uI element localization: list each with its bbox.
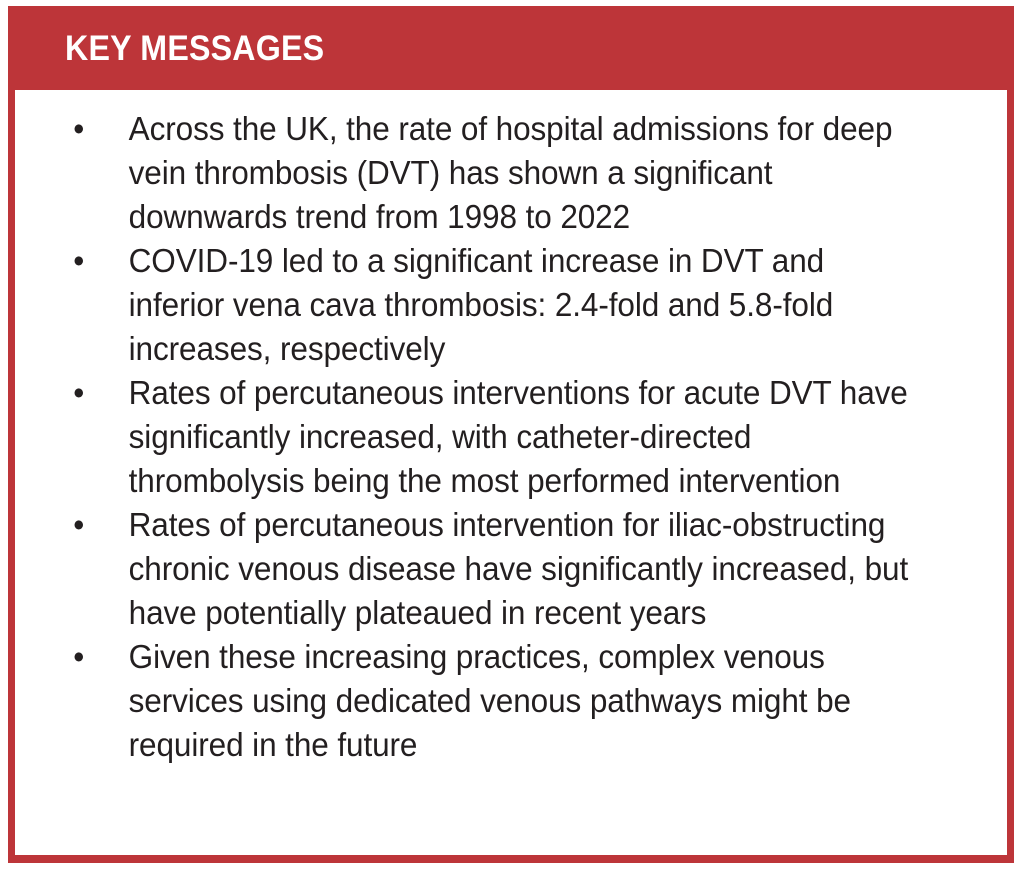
list-item-text: Across the UK, the rate of hospital admi… (129, 107, 926, 239)
list-item-text: Rates of percutaneous interventions for … (129, 371, 926, 503)
callout-header: KEY MESSAGES (8, 6, 1014, 90)
list-item-text: Rates of percutaneous intervention for i… (129, 503, 926, 635)
page-title: KEY MESSAGES (65, 31, 324, 66)
callout-body: • Across the UK, the rate of hospital ad… (15, 90, 1007, 855)
list-item: • Rates of percutaneous intervention for… (15, 503, 962, 635)
key-messages-page: KEY MESSAGES • Across the UK, the rate o… (0, 0, 1024, 874)
key-messages-callout: KEY MESSAGES • Across the UK, the rate o… (8, 6, 1014, 863)
list-item-text: Given these increasing practices, comple… (129, 635, 926, 767)
list-item: • Rates of percutaneous interventions fo… (15, 371, 962, 503)
list-item-text: COVID-19 led to a significant increase i… (129, 239, 926, 371)
bullet-icon: • (73, 107, 102, 151)
list-item: • Given these increasing practices, comp… (15, 635, 962, 767)
bullet-icon: • (73, 239, 102, 283)
list-item: • COVID-19 led to a significant increase… (15, 239, 962, 371)
key-messages-list: • Across the UK, the rate of hospital ad… (15, 107, 1007, 767)
bullet-icon: • (73, 371, 102, 415)
bullet-icon: • (73, 503, 102, 547)
list-item: • Across the UK, the rate of hospital ad… (15, 107, 962, 239)
bullet-icon: • (73, 635, 102, 679)
